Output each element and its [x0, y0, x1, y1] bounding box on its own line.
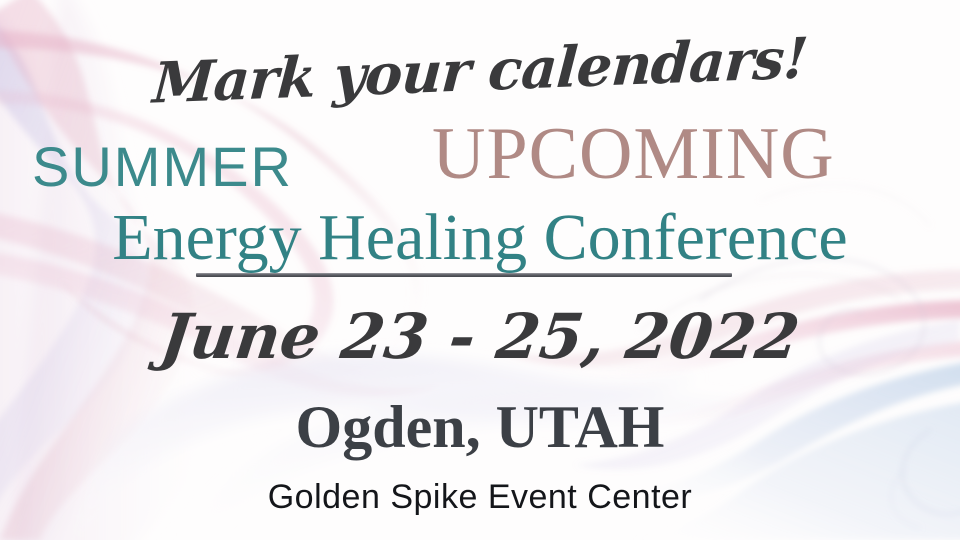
event-city: Ogden, UTAH	[0, 393, 960, 462]
event-venue: Golden Spike Event Center	[0, 478, 960, 517]
event-date: June 23 - 25, 2022	[0, 300, 960, 373]
divider	[196, 273, 732, 277]
status-badge: UPCOMING	[432, 112, 835, 197]
poster-text-content: Mark your calendars! SUMMER UPCOMING Ene…	[0, 0, 960, 540]
season-label: SUMMER	[32, 134, 293, 199]
eyebrow-script-text: Mark your calendars!	[0, 19, 960, 122]
page-title: Energy Healing Conference	[0, 200, 960, 276]
event-announcement-poster: Mark your calendars! SUMMER UPCOMING Ene…	[0, 0, 960, 540]
